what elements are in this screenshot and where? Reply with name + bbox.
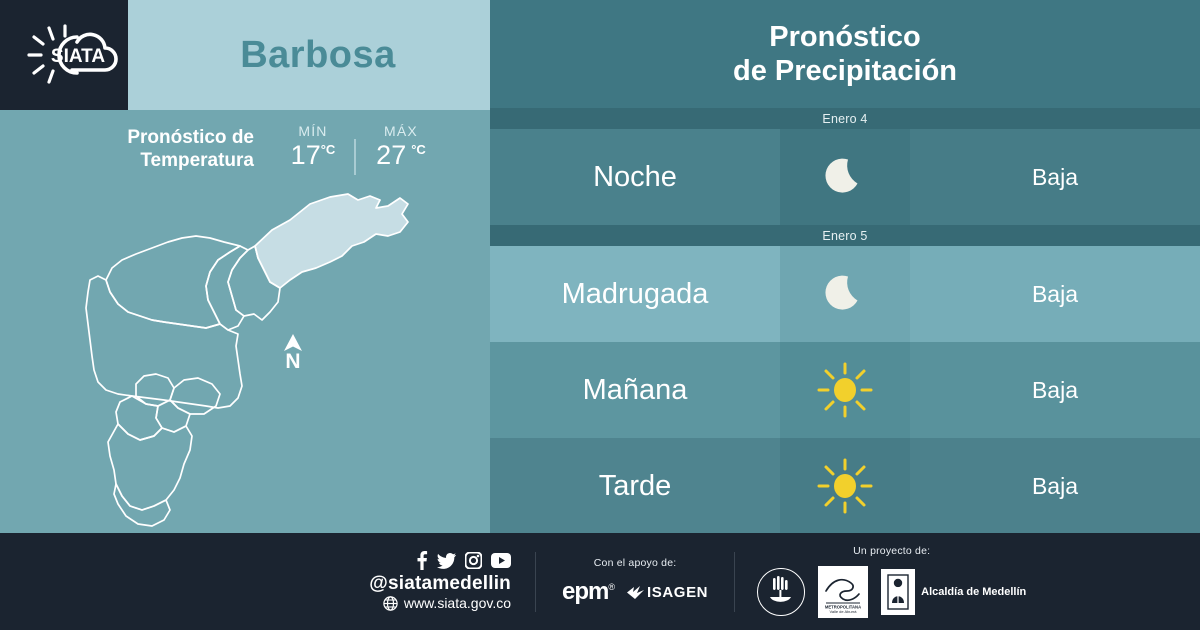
- forecast-period-label: Tarde: [599, 470, 672, 503]
- sun-cloud-icon: SIATA: [25, 23, 133, 87]
- city-band: Barbosa: [128, 0, 490, 110]
- temperature-min-value-group: 17°C: [278, 140, 348, 171]
- page-title: Barbosa: [222, 34, 396, 77]
- footer-support-caption: Con el apoyo de:: [594, 557, 677, 569]
- temperature-min-value: 17: [291, 140, 321, 170]
- forecast-period-label: Noche: [593, 161, 677, 194]
- forecast-title-line1: Pronóstico: [769, 20, 920, 54]
- map-region-bello: [106, 236, 240, 328]
- footer-social: @siatamedellin www.siata.gov.co: [300, 551, 535, 612]
- logo-wordmark: SIATA: [51, 46, 105, 67]
- footer-website[interactable]: www.siata.gov.co: [383, 595, 511, 612]
- forecast-row-manana[interactable]: Mañana Ba: [490, 342, 1200, 438]
- alcaldia-crest-icon: [885, 573, 911, 611]
- valley-map[interactable]: N: [0, 188, 490, 533]
- sun-icon: [816, 361, 874, 419]
- alcaldia-logo[interactable]: Alcaldía de Medellín: [881, 569, 1026, 615]
- forecast-period-label: Mañana: [583, 374, 688, 407]
- temperature-title-line2: Temperatura: [86, 149, 254, 172]
- forecast-period-cell: Mañana: [490, 342, 780, 438]
- footer-project-caption: Un proyecto de:: [853, 545, 930, 557]
- forecast-row-madrugada[interactable]: Madrugada Baja: [490, 246, 1200, 342]
- forecast-probability-cell: Baja: [910, 438, 1200, 534]
- date-strip-enero-4: Enero 4: [490, 108, 1200, 129]
- forecast-row-tarde[interactable]: Tarde Baj: [490, 438, 1200, 534]
- municipalities-map-svg: [58, 184, 444, 534]
- map-region-caldas: [108, 424, 192, 510]
- map-region-medellin: [86, 276, 242, 408]
- footer-website-label: www.siata.gov.co: [404, 595, 511, 612]
- forecast-probability-label: Baja: [1032, 164, 1078, 191]
- map-region-la-estrella: [116, 396, 162, 440]
- area-metropolitana-logo[interactable]: METROPOLITANA Valle de Aburrá: [818, 566, 868, 618]
- date-label: Enero 4: [822, 112, 867, 126]
- date-strip-enero-5: Enero 5: [490, 225, 1200, 246]
- forecast-period-label: Madrugada: [562, 278, 709, 311]
- north-label: N: [276, 351, 310, 372]
- epm-logo[interactable]: epm®: [562, 578, 614, 606]
- forecast-panel: Pronóstico de Precipitación Enero 4 Noch…: [490, 0, 1200, 533]
- moon-icon: [818, 150, 872, 204]
- footer: @siatamedellin www.siata.gov.co Con el a…: [0, 533, 1200, 630]
- globe-icon: [383, 596, 398, 611]
- temperature-summary: Pronóstico de Temperatura MÍN 17°C MÁX 2…: [0, 110, 490, 188]
- forecast-probability-label: Baja: [1032, 281, 1078, 308]
- temperature-title: Pronóstico de Temperatura: [86, 126, 254, 172]
- alcaldia-label: Alcaldía de Medellín: [921, 586, 1026, 598]
- date-label: Enero 5: [822, 229, 867, 243]
- forecast-probability-label: Baja: [1032, 473, 1078, 500]
- footer-project-block: Un proyecto de:: [735, 543, 1048, 621]
- forecast-header: Pronóstico de Precipitación: [490, 0, 1200, 108]
- forecast-icon-cell: [780, 342, 910, 438]
- temperature-max-unit: °C: [411, 142, 426, 157]
- infographic-root: SIATA Barbosa Pronóstico de Temperatura …: [0, 0, 1200, 630]
- temperature-max-value: 27: [376, 140, 406, 170]
- forecast-period-cell: Noche: [490, 129, 780, 225]
- north-indicator: N: [276, 334, 310, 372]
- forecast-probability-cell: Baja: [910, 342, 1200, 438]
- isagen-mark-icon: [627, 585, 644, 600]
- map-region-caldas-tail: [114, 484, 170, 526]
- forecast-icon-cell: [780, 438, 910, 534]
- instagram-icon[interactable]: [465, 552, 482, 569]
- temperature-max: MÁX 27°C: [362, 123, 440, 171]
- temperature-min: MÍN 17°C: [278, 123, 348, 171]
- temperature-min-unit: °C: [321, 142, 336, 157]
- footer-support-block: Con el apoyo de: epm® ISAGEN: [536, 543, 734, 621]
- forecast-period-cell: Madrugada: [490, 246, 780, 342]
- forecast-icon-cell: [780, 129, 910, 225]
- temperature-max-value-group: 27°C: [362, 140, 440, 171]
- moon-icon: [818, 267, 872, 321]
- facebook-icon[interactable]: [416, 551, 428, 570]
- forecast-icon-cell: [780, 246, 910, 342]
- forecast-probability-cell: Baja: [910, 246, 1200, 342]
- twitter-icon[interactable]: [437, 553, 456, 569]
- map-region-copacabana: [206, 246, 248, 330]
- youtube-icon[interactable]: [491, 553, 511, 568]
- forecast-row-noche[interactable]: Noche Baja: [490, 129, 1200, 225]
- forecast-probability-label: Baja: [1032, 377, 1078, 404]
- temperature-max-label: MÁX: [362, 123, 440, 139]
- forecast-title-line2: de Precipitación: [733, 54, 957, 88]
- left-panel: SIATA Barbosa Pronóstico de Temperatura …: [0, 0, 490, 533]
- forecast-period-cell: Tarde: [490, 438, 780, 534]
- sun-icon: [816, 457, 874, 515]
- map-region-barbosa: [255, 194, 408, 288]
- isagen-logo[interactable]: ISAGEN: [627, 584, 708, 601]
- svg-text:Valle de Aburrá: Valle de Aburrá: [830, 609, 858, 614]
- temperature-divider: [354, 139, 356, 175]
- forecast-probability-cell: Baja: [910, 129, 1200, 225]
- area-metropolitana-mark-icon: METROPOLITANA Valle de Aburrá: [821, 569, 865, 615]
- footer-handle[interactable]: @siatamedellin: [369, 573, 511, 595]
- temperature-min-label: MÍN: [278, 123, 348, 139]
- temperature-title-line1: Pronóstico de: [86, 126, 254, 149]
- udea-seal-logo[interactable]: [757, 568, 805, 616]
- udea-hand-book-icon: [766, 576, 796, 608]
